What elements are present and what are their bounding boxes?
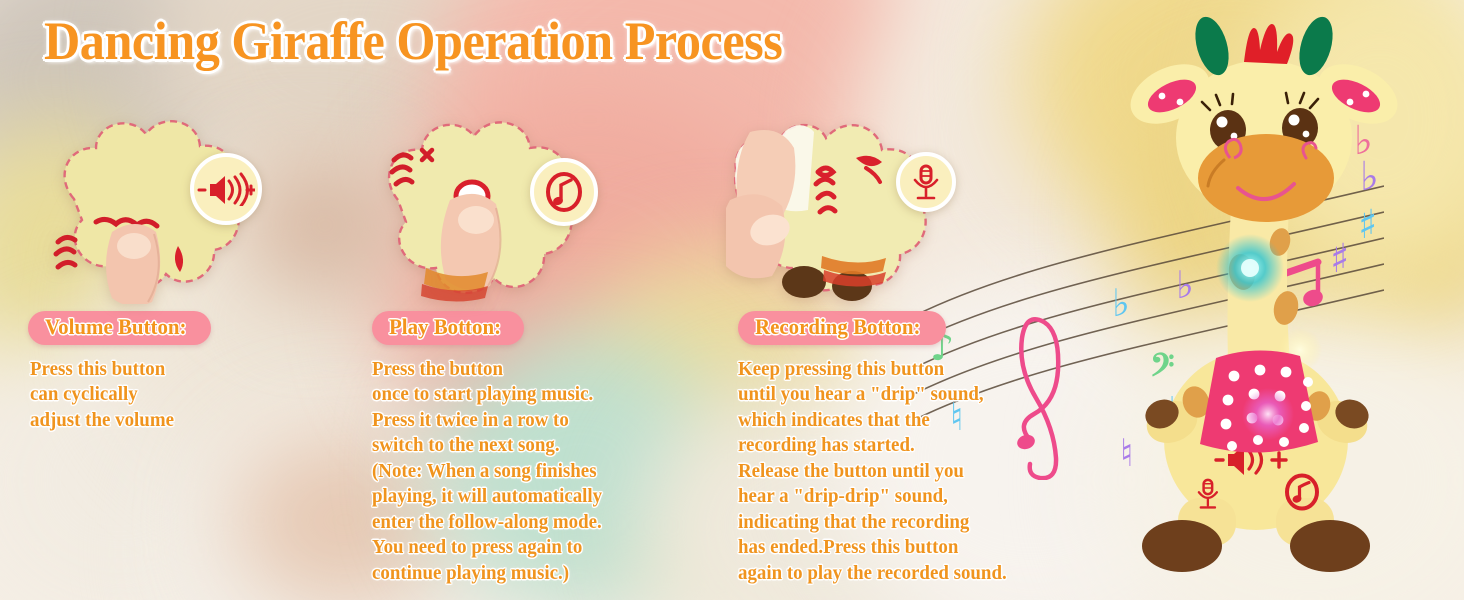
description-play: Press the button once to start playing m…: [372, 357, 717, 587]
label-text-play: Play Botton:: [389, 314, 501, 340]
description-recording: Keep pressing this button until you hear…: [738, 357, 1066, 587]
label-pill-recording: Recording Botton:: [738, 311, 946, 345]
microphone-icon: [911, 163, 941, 201]
label-pill-play: Play Botton:: [372, 311, 524, 345]
photo-recording-button-press: [726, 96, 1076, 311]
callout-volume-icon: [190, 153, 262, 225]
label-pill-volume: Volume Button:: [28, 311, 211, 345]
description-volume: Press this button can cyclically adjust …: [30, 357, 350, 434]
photo-volume-button-press: [0, 96, 360, 311]
photo-play-button-press: [358, 96, 728, 311]
callout-recording-icon: [896, 152, 956, 212]
product-photo-area: ♭ ♭ ♭ 𝄢 ♯ ♮ ♮ ♪ ♪ ❙ 𝄢 ♮ ♭ ♭ ♯ ♯ ♯: [1044, 0, 1464, 600]
volume-speaker-icon: [197, 172, 255, 206]
pill-wrap-volume: Volume Button:: [28, 311, 360, 345]
label-text-volume: Volume Button:: [45, 314, 186, 340]
dancing-giraffe-plush: [1104, 10, 1424, 600]
page-title-text: Dancing Giraffe Operation Process: [44, 14, 782, 68]
label-text-recording: Recording Botton:: [755, 314, 920, 340]
instruction-panel-recording: Recording Botton: Keep pressing this but…: [726, 96, 1076, 586]
polka-dot-bib: [1200, 350, 1318, 452]
pill-wrap-play: Play Botton:: [372, 311, 728, 345]
callout-play-icon: [530, 158, 598, 226]
instruction-panel-play: Play Botton: Press the button once to st…: [358, 96, 728, 586]
pill-wrap-recording: Recording Botton:: [738, 311, 1076, 345]
music-note-icon: [543, 171, 585, 213]
instruction-panel-volume: Volume Button: Press this button can cyc…: [0, 96, 360, 433]
page-title: Dancing Giraffe Operation Process: [0, 8, 1040, 74]
